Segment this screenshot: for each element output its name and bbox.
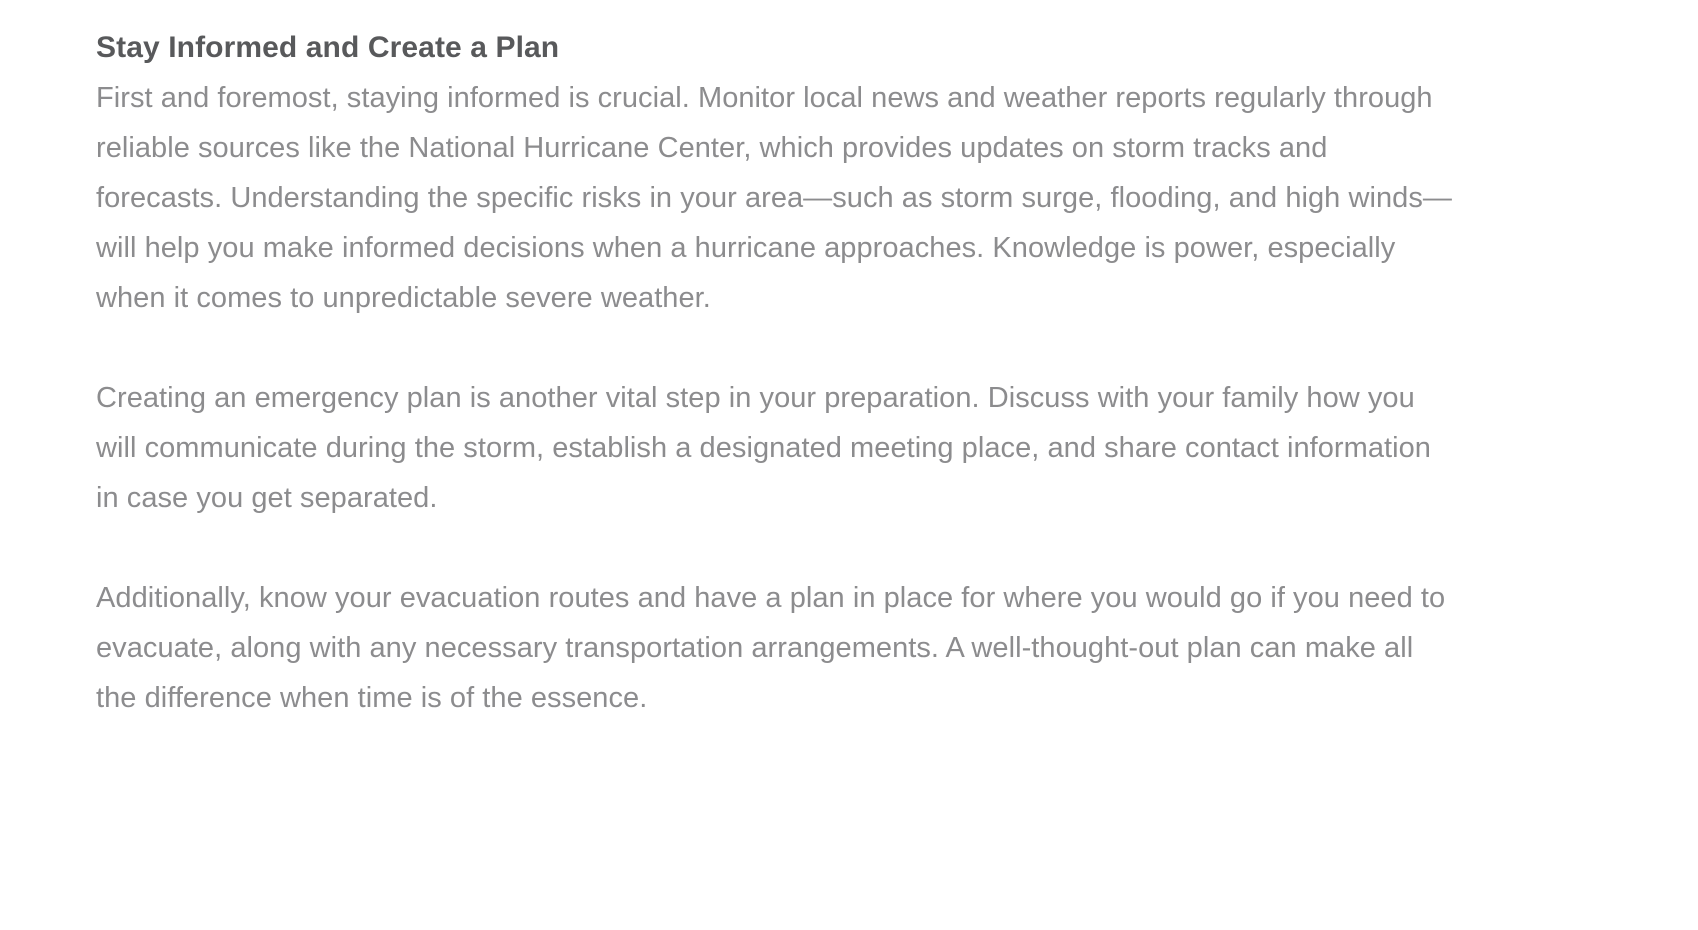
article-paragraph-1: First and foremost, staying informed is … xyxy=(96,73,1456,323)
article-paragraph-3: Additionally, know your evacuation route… xyxy=(96,573,1456,723)
article-container: Stay Informed and Create a Plan First an… xyxy=(96,0,1456,723)
article-paragraph-2: Creating an emergency plan is another vi… xyxy=(96,373,1456,523)
paragraph-spacer xyxy=(96,323,1456,373)
paragraph-spacer xyxy=(96,523,1456,573)
page-title: Stay Informed and Create a Plan xyxy=(96,0,1456,73)
